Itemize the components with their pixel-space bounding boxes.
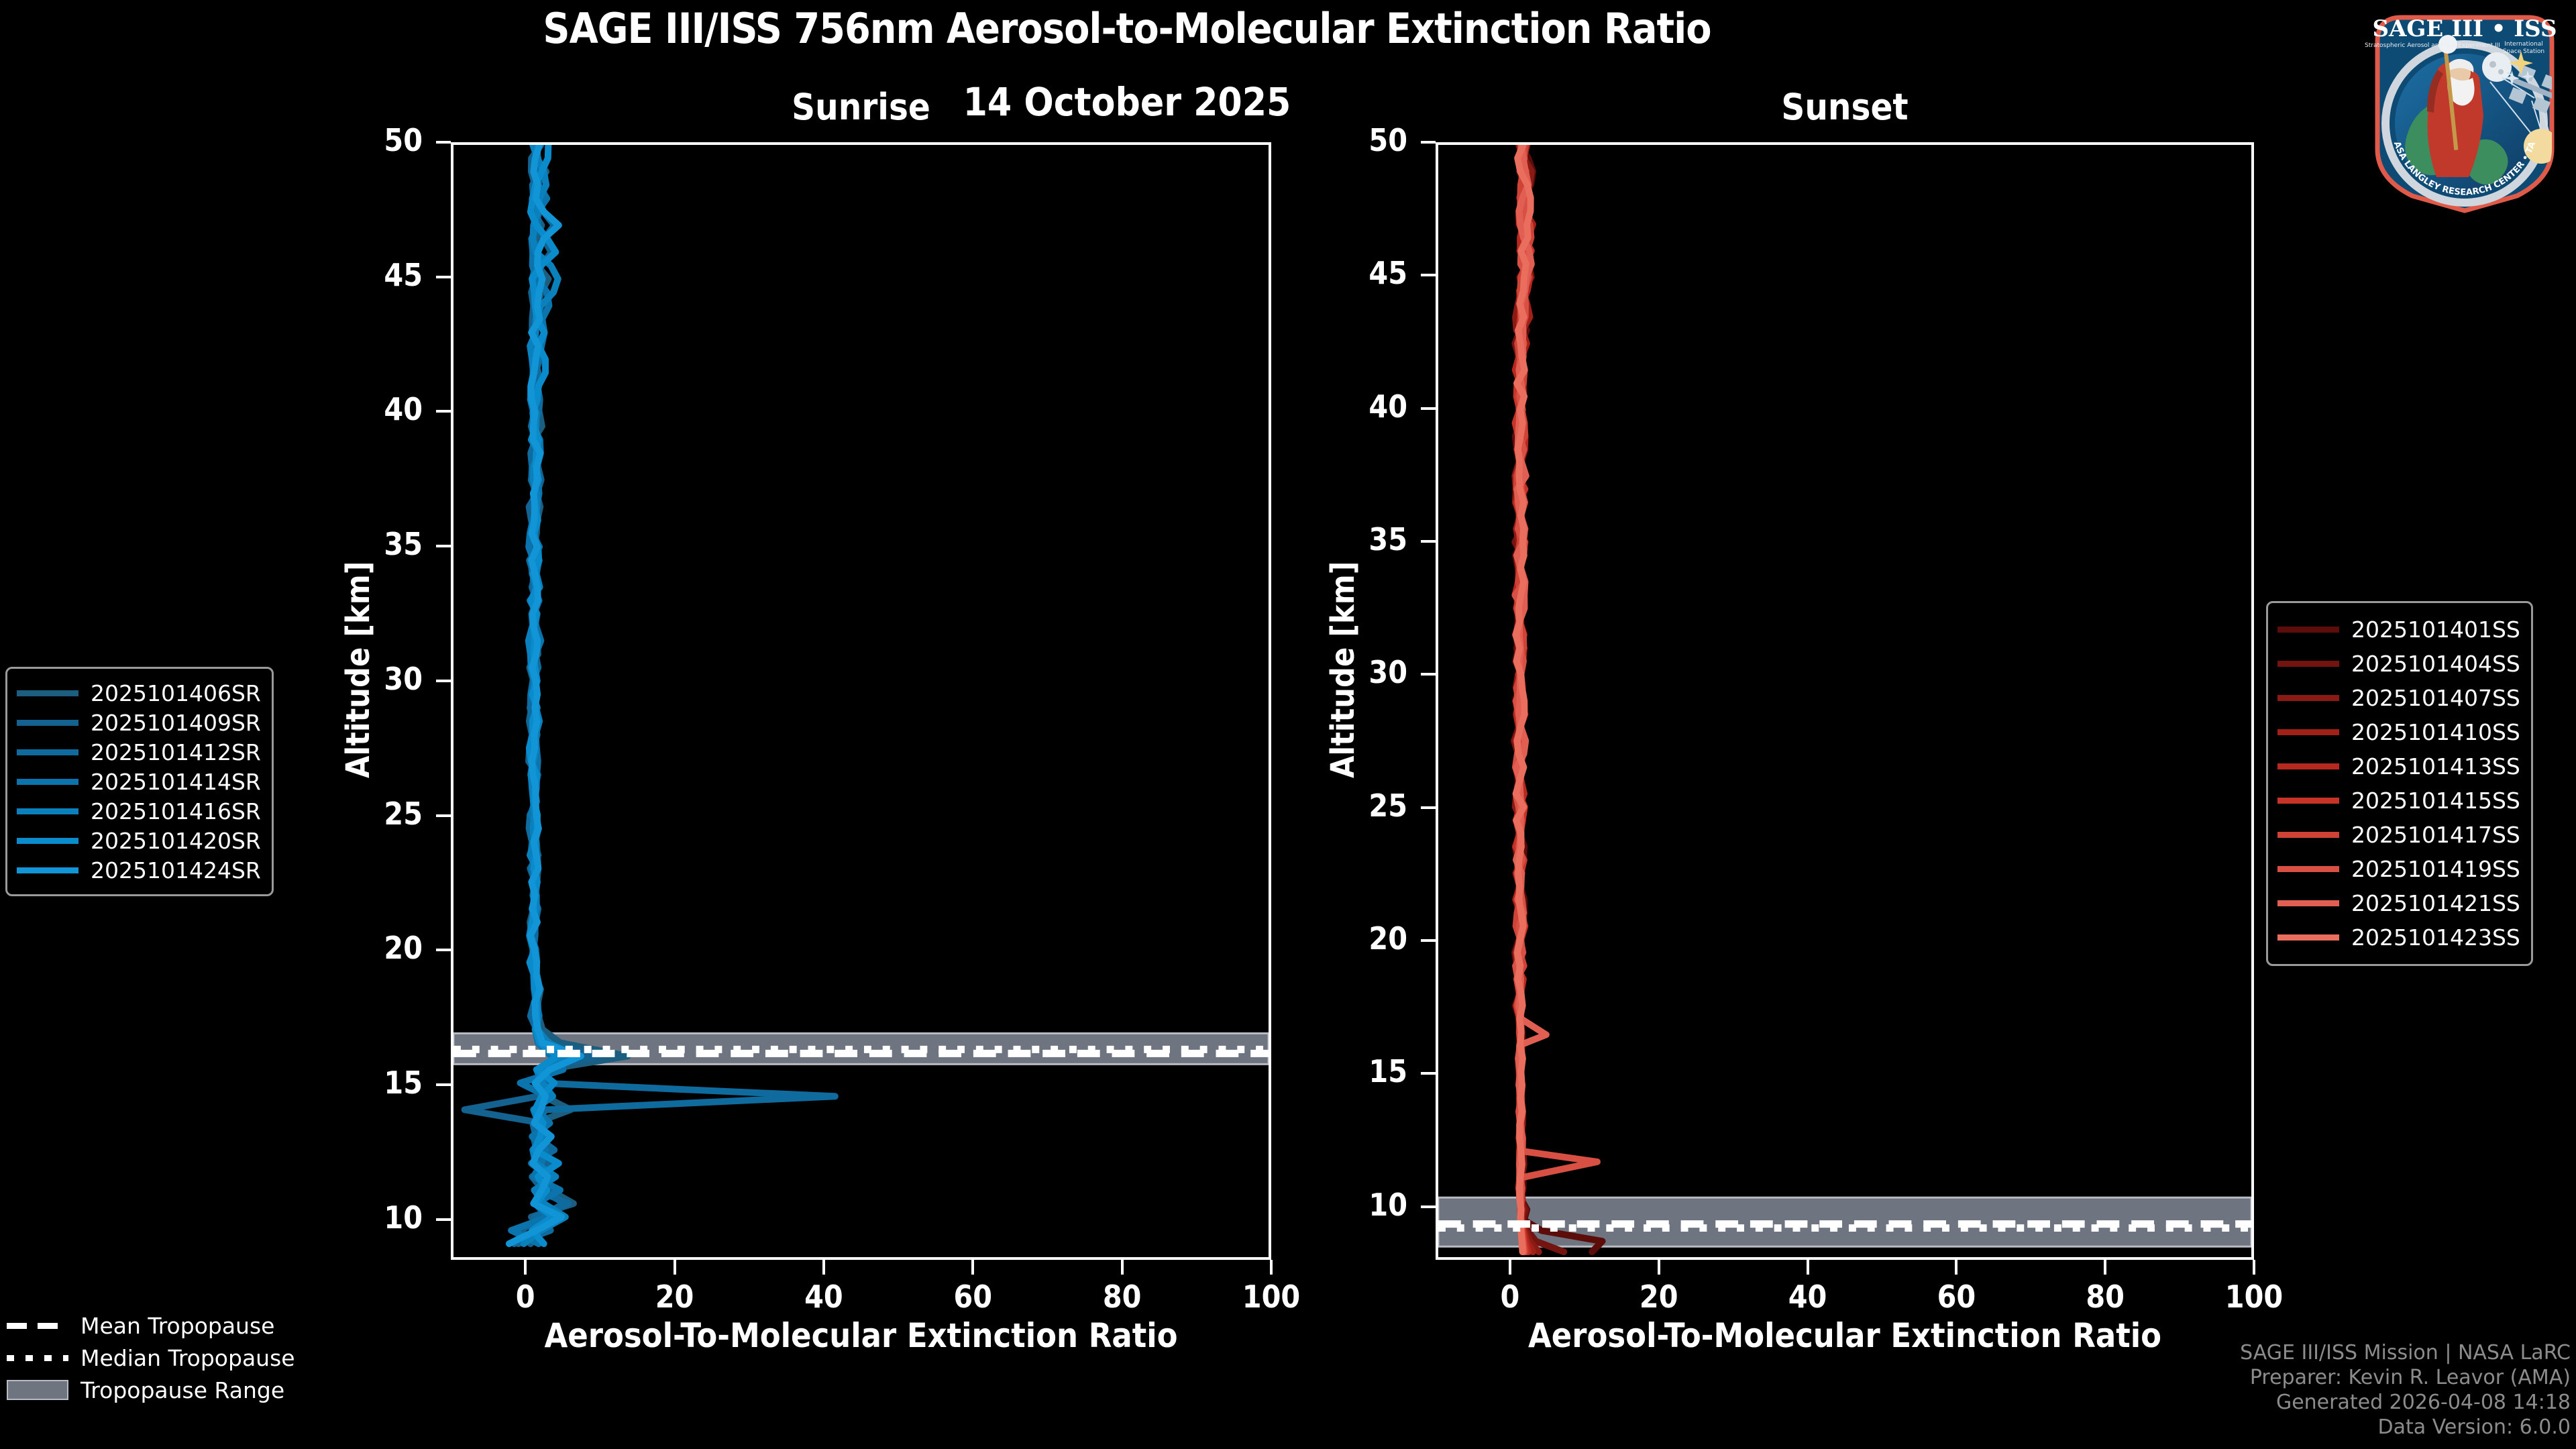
sunrise-legend-item[interactable]: 2025101424SR (17, 855, 261, 885)
credit-line-generated: Generated 2026-04-08 14:18 (2240, 1390, 2571, 1415)
legend-color-swatch-icon (2277, 661, 2339, 667)
x-tick-label: 80 (2065, 1279, 2145, 1315)
sunset-legend-item[interactable]: 2025101421SS (2277, 886, 2520, 920)
legend-label: 2025101420SR (91, 828, 261, 854)
x-tick-mark (1270, 1260, 1273, 1275)
y-tick-label: 25 (342, 796, 423, 832)
legend-color-swatch-icon (2277, 934, 2339, 941)
legend-label: 2025101412SR (91, 739, 261, 765)
sunrise-legend-item[interactable]: 2025101406SR (17, 678, 261, 708)
credit-line-version: Data Version: 6.0.0 (2240, 1415, 2571, 1440)
legend-color-swatch-icon (2277, 729, 2339, 735)
legend-color-swatch-icon (17, 690, 78, 696)
legend-color-swatch-icon (17, 867, 78, 873)
legend-color-swatch-icon (17, 838, 78, 844)
y-tick-label: 50 (342, 122, 423, 158)
legend-color-swatch-icon (2277, 900, 2339, 906)
sunrise-plot-canvas (453, 145, 1269, 1257)
y-tick-mark (1421, 141, 1436, 144)
y-tick-label: 35 (1327, 521, 1407, 557)
y-tick-label: 20 (1327, 920, 1407, 957)
legend-color-swatch-icon (17, 720, 78, 726)
legend-label: 2025101417SS (2351, 822, 2520, 848)
y-tick-label: 15 (1327, 1053, 1407, 1089)
x-tick-label: 20 (635, 1279, 715, 1315)
y-tick-mark (436, 141, 451, 144)
x-tick-label: 0 (485, 1279, 566, 1315)
x-tick-label: 0 (1470, 1279, 1550, 1315)
x-tick-mark (1509, 1260, 1511, 1275)
y-tick-mark (1421, 806, 1436, 809)
y-tick-label: 40 (1327, 388, 1407, 425)
y-tick-mark (436, 545, 451, 547)
legend-color-swatch-icon (17, 779, 78, 785)
legend-color-swatch-icon (2277, 798, 2339, 804)
sunset-legend-item[interactable]: 2025101419SS (2277, 852, 2520, 886)
y-tick-label: 45 (1327, 255, 1407, 291)
x-tick-mark (2253, 1260, 2255, 1275)
dashed-line-icon (7, 1323, 68, 1329)
svg-text:Stratospheric Aerosol and Gas: Stratospheric Aerosol and Gas Experiment… (2365, 42, 2500, 49)
legend-label: 2025101419SS (2351, 856, 2520, 882)
y-tick-mark (1421, 673, 1436, 676)
x-tick-mark (2104, 1260, 2106, 1275)
y-tick-mark (436, 1218, 451, 1221)
sage-iii-iss-logo-icon: SAGE III • ISS Stratospheric Aerosol and… (2359, 3, 2571, 215)
x-tick-mark (524, 1260, 527, 1275)
svg-text:SAGE III • ISS: SAGE III • ISS (2372, 15, 2557, 42)
sunrise-x-axis-label: Aerosol-To-Molecular Extinction Ratio (451, 1316, 1271, 1355)
x-tick-label: 20 (1619, 1279, 1699, 1315)
legend-label-median-tropopause: Median Tropopause (80, 1345, 295, 1371)
legend-color-swatch-icon (2277, 695, 2339, 701)
legend-label: 2025101406SR (91, 680, 261, 706)
legend-item-tropopause-range: Tropopause Range (7, 1374, 295, 1406)
sunrise-plot[interactable] (451, 142, 1271, 1260)
y-tick-mark (436, 410, 451, 413)
x-tick-label: 40 (784, 1279, 864, 1315)
y-tick-mark (436, 949, 451, 951)
legend-label: 2025101421SS (2351, 890, 2520, 916)
y-tick-mark (436, 680, 451, 682)
legend-label: 2025101423SS (2351, 924, 2520, 951)
y-tick-mark (1421, 1205, 1436, 1208)
svg-text:International: International (2504, 41, 2542, 48)
x-tick-label: 100 (2214, 1279, 2294, 1315)
x-tick-label: 80 (1082, 1279, 1163, 1315)
legend-label: 2025101413SS (2351, 753, 2520, 780)
legend-color-swatch-icon (2277, 832, 2339, 838)
y-tick-label: 25 (1327, 788, 1407, 824)
y-tick-label: 45 (342, 257, 423, 293)
dotted-line-icon (7, 1355, 68, 1361)
sunrise-legend-item[interactable]: 2025101409SR (17, 708, 261, 737)
legend-color-swatch-icon (17, 808, 78, 814)
legend-item-mean-tropopause: Mean Tropopause (7, 1309, 295, 1342)
y-tick-label: 10 (342, 1199, 423, 1236)
y-tick-mark (1421, 407, 1436, 410)
legend-item-median-tropopause: Median Tropopause (7, 1342, 295, 1374)
sunset-plot-canvas (1438, 145, 2251, 1257)
sunset-x-axis-label: Aerosol-To-Molecular Extinction Ratio (1436, 1316, 2254, 1355)
y-tick-label: 15 (342, 1065, 423, 1101)
y-tick-mark (1421, 1072, 1436, 1075)
x-tick-mark (1807, 1260, 1809, 1275)
sunset-legend[interactable]: 2025101401SS2025101404SS2025101407SS2025… (2266, 601, 2533, 966)
x-tick-mark (971, 1260, 974, 1275)
y-tick-mark (436, 1083, 451, 1086)
x-tick-mark (1658, 1260, 1660, 1275)
y-tick-mark (436, 814, 451, 817)
sunset-legend-item[interactable]: 2025101407SS (2277, 681, 2520, 715)
sunset-legend-item[interactable]: 2025101413SS (2277, 749, 2520, 784)
sunset-legend-item[interactable]: 2025101410SS (2277, 715, 2520, 749)
legend-label: 2025101414SR (91, 769, 261, 795)
legend-label: 2025101407SS (2351, 685, 2520, 711)
sunset-legend-item[interactable]: 2025101401SS (2277, 612, 2520, 647)
credit-line-preparer: Preparer: Kevin R. Leavor (AMA) (2240, 1365, 2571, 1390)
legend-label: 2025101424SR (91, 857, 261, 883)
x-tick-label: 60 (932, 1279, 1013, 1315)
series-line-2025101412SR (515, 145, 835, 1244)
x-tick-mark (822, 1260, 825, 1275)
x-tick-label: 100 (1231, 1279, 1311, 1315)
legend-label: 2025101415SS (2351, 788, 2520, 814)
tropopause-legend: Mean Tropopause Median Tropopause Tropop… (7, 1309, 295, 1406)
sunrise-panel-title: Sunrise (451, 86, 1271, 128)
sunrise-legend[interactable]: 2025101406SR2025101409SR2025101412SR2025… (5, 667, 274, 896)
sunrise-legend-item[interactable]: 2025101416SR (17, 796, 261, 826)
y-tick-mark (1421, 540, 1436, 543)
sunset-panel-title: Sunset (1436, 86, 2254, 128)
credit-line-mission: SAGE III/ISS Mission | NASA LaRC (2240, 1340, 2571, 1365)
y-tick-label: 10 (1327, 1187, 1407, 1223)
sunset-legend-item[interactable]: 2025101423SS (2277, 920, 2520, 955)
y-tick-mark (1421, 939, 1436, 942)
x-tick-mark (674, 1260, 676, 1275)
legend-label-mean-tropopause: Mean Tropopause (80, 1313, 274, 1339)
x-tick-mark (1121, 1260, 1124, 1275)
legend-label: 2025101401SS (2351, 616, 2520, 643)
svg-text:Space Station: Space Station (2503, 48, 2544, 55)
y-tick-label: 50 (1327, 122, 1407, 158)
y-tick-label: 35 (342, 526, 423, 562)
legend-color-swatch-icon (17, 749, 78, 755)
legend-color-swatch-icon (2277, 627, 2339, 633)
shaded-band-icon (7, 1380, 68, 1400)
sunrise-legend-item[interactable]: 2025101414SR (17, 767, 261, 796)
credits-block: SAGE III/ISS Mission | NASA LaRC Prepare… (2240, 1340, 2571, 1440)
legend-color-swatch-icon (2277, 763, 2339, 769)
y-tick-label: 20 (342, 930, 423, 966)
legend-label: 2025101416SR (91, 798, 261, 824)
legend-label: 2025101410SS (2351, 719, 2520, 745)
y-tick-label: 40 (342, 391, 423, 427)
sunset-legend-item[interactable]: 2025101404SS (2277, 647, 2520, 681)
x-tick-label: 60 (1916, 1279, 1996, 1315)
sunset-legend-item[interactable]: 2025101417SS (2277, 818, 2520, 852)
sunrise-legend-item[interactable]: 2025101420SR (17, 826, 261, 855)
series-line-2025101419SS (1515, 145, 1597, 1252)
y-tick-label: 30 (342, 661, 423, 697)
y-tick-mark (436, 276, 451, 278)
page-title: SAGE III/ISS 756nm Aerosol-to-Molecular … (0, 4, 2254, 53)
x-tick-label: 40 (1768, 1279, 1848, 1315)
y-tick-mark (1421, 274, 1436, 276)
y-tick-label: 30 (1327, 654, 1407, 690)
legend-color-swatch-icon (2277, 866, 2339, 872)
legend-label-tropopause-range: Tropopause Range (80, 1377, 284, 1403)
sunset-legend-item[interactable]: 2025101415SS (2277, 784, 2520, 818)
sunset-plot[interactable] (1436, 142, 2254, 1260)
legend-label: 2025101404SS (2351, 651, 2520, 677)
sunrise-legend-item[interactable]: 2025101412SR (17, 737, 261, 767)
legend-label: 2025101409SR (91, 710, 261, 736)
x-tick-mark (1955, 1260, 1957, 1275)
